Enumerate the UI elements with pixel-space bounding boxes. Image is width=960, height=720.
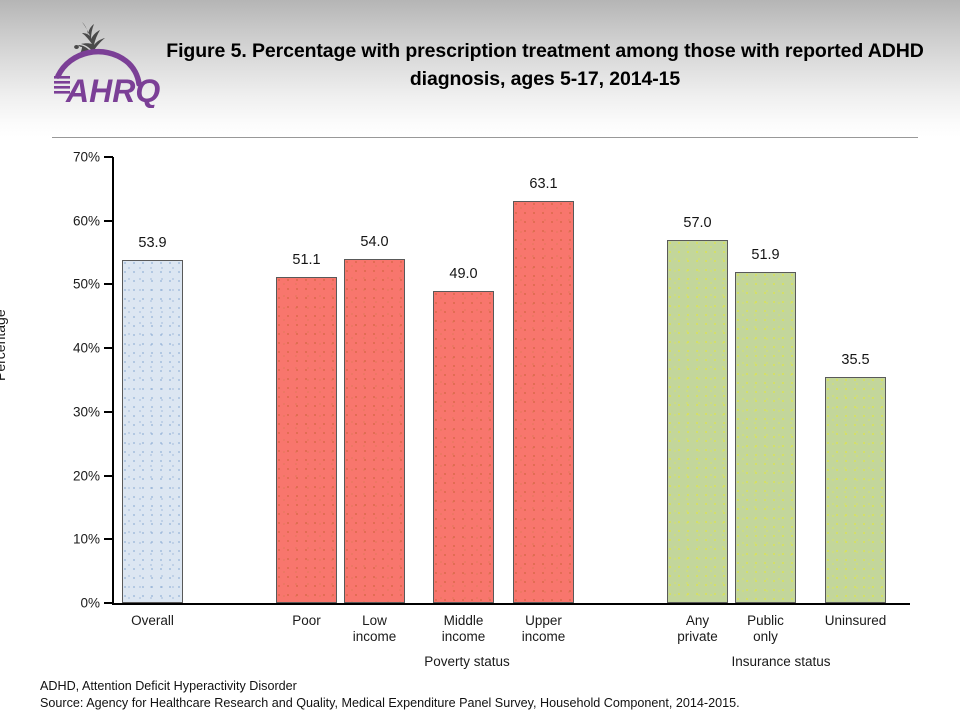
y-axis-tick [104, 283, 113, 285]
y-axis-tick [104, 411, 113, 413]
y-axis-tick-label: 10% [38, 532, 100, 547]
y-axis-labels: 0%10%20%30%40%50%60%70% [34, 0, 100, 720]
y-axis-tick [104, 156, 113, 158]
x-axis-category-label: Overall [131, 613, 174, 629]
bar[interactable] [735, 272, 796, 603]
y-axis-tick-label: 60% [38, 213, 100, 228]
bar-value-label: 49.0 [449, 266, 477, 282]
plot-area [113, 157, 910, 603]
y-axis-tick [104, 475, 113, 477]
y-axis-tick-label: 40% [38, 341, 100, 356]
x-axis-category-label: Middle income [442, 613, 486, 645]
bar[interactable] [513, 201, 574, 603]
x-axis-category-label: Any private [677, 613, 718, 645]
bar[interactable] [122, 260, 183, 603]
x-axis-category-label: Low income [353, 613, 397, 645]
y-axis-tick [104, 347, 113, 349]
bar[interactable] [276, 277, 337, 603]
bar[interactable] [433, 291, 494, 603]
x-axis-category-label: Poor [292, 613, 321, 629]
x-axis-line [112, 603, 910, 605]
chart-canvas: 0%10%20%30%40%50%60%70% Percentage 53.95… [0, 0, 960, 720]
x-axis-category-label: Public only [747, 613, 784, 645]
bar-value-label: 54.0 [360, 234, 388, 250]
y-axis-tick-label: 70% [38, 150, 100, 165]
abbreviation-note: ADHD, Attention Deficit Hyperactivity Di… [40, 678, 740, 695]
bar-value-label: 53.9 [138, 235, 166, 251]
y-axis-tick-label: 30% [38, 404, 100, 419]
y-axis-tick-label: 20% [38, 468, 100, 483]
y-axis-tick-label: 0% [38, 596, 100, 611]
y-axis-tick-label: 50% [38, 277, 100, 292]
footnotes: ADHD, Attention Deficit Hyperactivity Di… [40, 678, 740, 713]
bar[interactable] [825, 377, 886, 603]
y-axis-tick [104, 602, 113, 604]
bar-value-label: 51.1 [292, 252, 320, 268]
bar-value-label: 57.0 [683, 215, 711, 231]
bar-value-label: 35.5 [841, 352, 869, 368]
y-axis-tick [104, 220, 113, 222]
bar-value-label: 51.9 [751, 247, 779, 263]
x-axis-category-label: Uninsured [825, 613, 887, 629]
bar[interactable] [344, 259, 405, 603]
x-axis-category-label: Upper income [522, 613, 566, 645]
bar-value-label: 63.1 [529, 176, 557, 192]
bar[interactable] [667, 240, 728, 603]
x-axis-group-label: Poverty status [424, 654, 510, 669]
source-note: Source: Agency for Healthcare Research a… [40, 695, 740, 712]
y-axis-tick [104, 538, 113, 540]
y-axis-title: Percentage [0, 309, 8, 381]
x-axis-group-label: Insurance status [731, 654, 830, 669]
